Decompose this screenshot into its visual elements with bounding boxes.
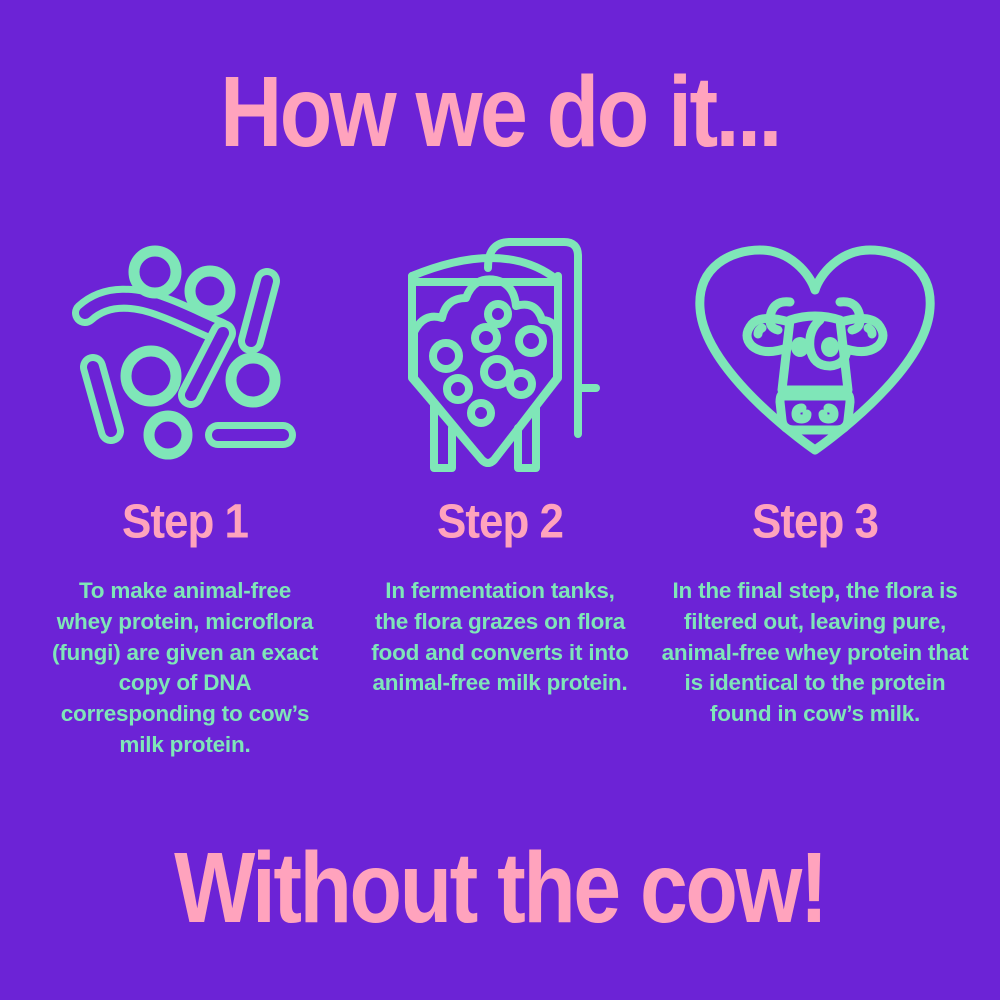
- step-column-1: Step 1 To make animal-free whey protein,…: [30, 228, 340, 761]
- step-3-body: In the final step, the flora is filtered…: [660, 576, 970, 730]
- page-title-top: How we do it...: [0, 62, 1000, 163]
- step-1-title: Step 1: [122, 498, 248, 546]
- step-2-body: In fermentation tanks, the flora grazes …: [369, 576, 631, 699]
- step-column-2: Step 2 In fermentation tanks, the flora …: [345, 228, 655, 699]
- infographic-poster: How we do it...: [0, 0, 1000, 1000]
- page-title-bottom: Without the cow!: [0, 838, 1000, 939]
- step-column-3: Step 3 In the final step, the flora is f…: [660, 228, 970, 730]
- heart-cow-icon: [690, 228, 940, 478]
- microflora-bacteria-icon: [67, 228, 303, 478]
- step-3-title: Step 3: [752, 498, 878, 546]
- steps-row: Step 1 To make animal-free whey protein,…: [30, 228, 970, 761]
- fermentation-tank-icon: [400, 228, 600, 478]
- step-1-body: To make animal-free whey protein, microf…: [49, 576, 321, 761]
- step-2-title: Step 2: [437, 498, 563, 546]
